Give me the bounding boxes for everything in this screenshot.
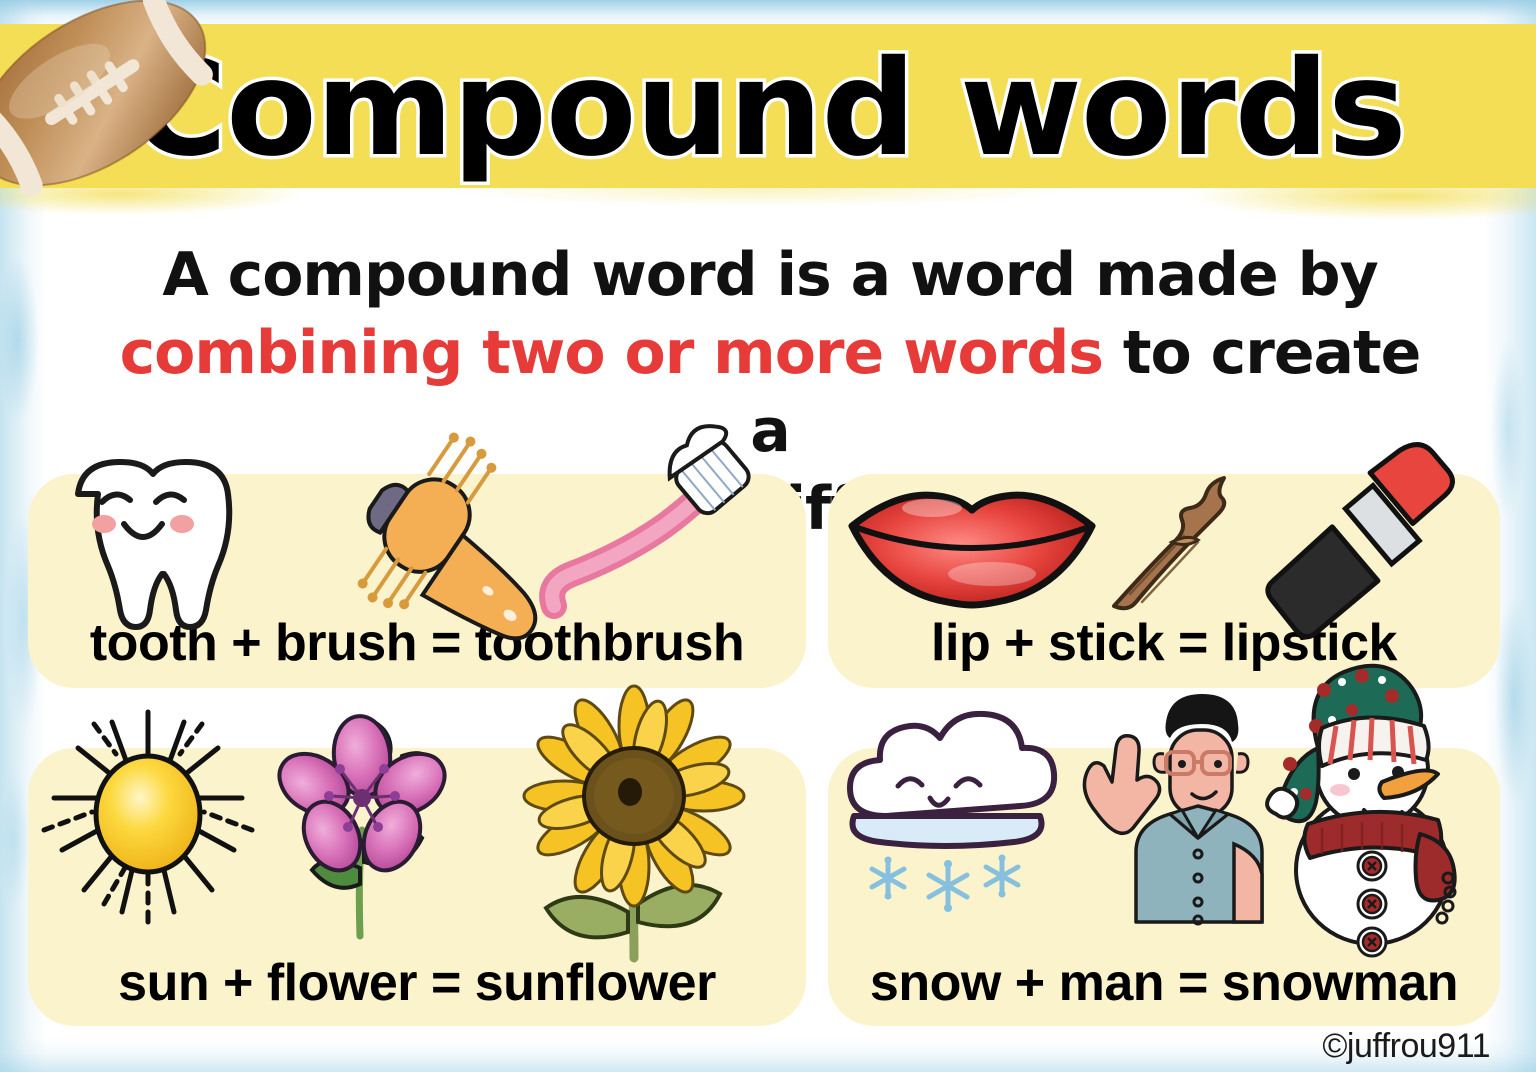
- definition-line-1: A compound word is a word made by: [162, 240, 1377, 310]
- title-banner: Compound words: [0, 24, 1536, 188]
- man-icon: [1084, 694, 1262, 924]
- example-art-toothbrush: [40, 452, 810, 642]
- twig-icon: [1114, 478, 1224, 608]
- football-icon: [0, 0, 216, 203]
- definition-highlight: combining two or more words: [120, 318, 1103, 388]
- example-label-snowman: snow + man = snowman: [828, 954, 1500, 1012]
- snowman-icon: [1267, 666, 1455, 956]
- example-art-snowman: [838, 706, 1500, 944]
- lips-icon: [852, 495, 1092, 605]
- watermark: ©juffrou911: [1322, 1027, 1490, 1066]
- page-title: Compound words: [0, 34, 1536, 184]
- snow-cloud-icon: [850, 714, 1054, 912]
- banner-watercolor-fade: [0, 186, 1536, 242]
- bottom-watercolor-border: [0, 1038, 1536, 1072]
- sun-icon: [44, 712, 252, 922]
- lipstick-icon: [1257, 412, 1462, 666]
- example-art-sunflower: [34, 706, 806, 954]
- sunflower-icon: [524, 686, 744, 958]
- example-label-sunflower: sun + flower = sunflower: [28, 954, 806, 1012]
- flower-icon: [268, 713, 455, 936]
- example-art-lipstick: [838, 448, 1500, 644]
- tooth-icon: [78, 462, 229, 627]
